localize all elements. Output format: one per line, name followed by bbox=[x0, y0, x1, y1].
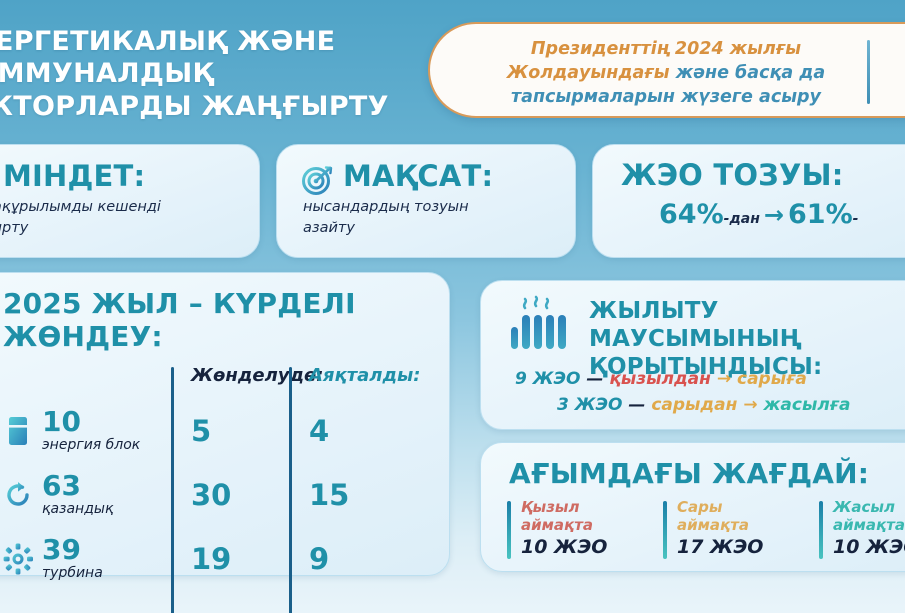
card-mindet-subtitle: Инфрақұрылымды кешенді жаңғырту bbox=[0, 197, 241, 239]
card-maksat: МАҚСАТ: нысандардың тозуын азайту bbox=[276, 144, 576, 258]
tozuy-statistic: 64%-дан→61%- bbox=[659, 199, 858, 230]
zone-yellow: Сары аймақта 17 ЖЭО bbox=[663, 499, 789, 558]
banner-text: Президенттің 2024 жылғы Жолдауындағы жән… bbox=[482, 37, 850, 109]
line2-to: жасылға bbox=[763, 395, 850, 415]
card-mindet-title: МІНДЕТ: bbox=[3, 159, 145, 193]
cell-in-repair-energy-block: 5 bbox=[167, 399, 285, 463]
banner-line2-rest: және басқа да bbox=[670, 63, 826, 83]
line2-arrow-icon: → bbox=[743, 395, 757, 415]
table-header-cell-completed: Аяқталды: bbox=[285, 365, 415, 386]
card-tozuy-title: ЖЭО ТОЗУЫ: bbox=[621, 158, 844, 192]
card-maksat-subtitle: нысандардың тозуын азайту bbox=[303, 197, 553, 239]
metric-turbine-text: 39 турбина bbox=[42, 536, 103, 581]
infographic-canvas: ЭНЕРГЕТИКАЛЫҚ ЖӘНЕ КОММУНАЛДЫҚ СЕКТОРЛАР… bbox=[0, 0, 905, 613]
zone-yellow-value: 17 ЖЭО bbox=[677, 536, 789, 558]
banner-line2-highlight: Жолдауындағы bbox=[507, 63, 670, 83]
zone-red: Қызыл аймақта 10 ЖЭО bbox=[507, 499, 633, 558]
line1-count: 9 ЖЭО bbox=[515, 369, 581, 389]
banner-line3: тапсырмаларын жүзеге асыру bbox=[511, 87, 821, 107]
banner-divider bbox=[867, 40, 870, 104]
table-row: 39 турбина 19 9 bbox=[3, 527, 433, 591]
line1-to: сарыға bbox=[737, 369, 807, 389]
tozuy-to-value: 61% bbox=[788, 199, 853, 230]
card-maksat-title: МАҚСАТ: bbox=[343, 159, 493, 193]
card-kurdeli-title: 2025 ЖЫЛ – КҮРДЕЛІ ЖӨНДЕУ: bbox=[3, 287, 433, 353]
president-banner: Президенттің 2024 жылғы Жолдауындағы жән… bbox=[428, 22, 905, 118]
zone-list: Қызыл аймақта 10 ЖЭО Сары аймақта 17 ЖЭО… bbox=[507, 499, 905, 558]
card-zheo-tozuy: ЖЭО ТОЗУЫ: 64%-дан→61%- bbox=[592, 144, 905, 258]
cell-completed-turbine: 9 bbox=[285, 527, 415, 591]
line1-from: қызылдан bbox=[609, 369, 711, 389]
line1-dash: — bbox=[586, 369, 603, 389]
repair-table: Жөнделуде: Аяқталды: bbox=[3, 365, 433, 591]
table-row: 63 қазандық 30 15 bbox=[3, 463, 433, 527]
arrow-right-icon: → bbox=[760, 201, 788, 229]
zone-red-value: 10 ЖЭО bbox=[521, 536, 633, 558]
line2-dash: — bbox=[628, 395, 645, 415]
zhylytu-line-2: 3 ЖЭО — сарыдан → жасылға bbox=[505, 393, 905, 419]
metric-boiler: 63 қазандық bbox=[3, 463, 167, 527]
card-zhylytu-maussym: ЖЫЛЫТУ МАУСЫМЫНЫҢ ҚОРЫТЫНДЫСЫ: 9 ЖЭО — қ… bbox=[480, 280, 905, 430]
card-agymdagy-zhagday: АҒЫМДАҒЫ ЖАҒДАЙ: Қызыл аймақта 10 ЖЭО Са… bbox=[480, 442, 905, 572]
banner-line1: Президенттің 2024 жылғы bbox=[531, 39, 801, 59]
table-row: 10 энергия блок 5 4 bbox=[3, 399, 433, 463]
metric-energy-block: 10 энергия блок bbox=[3, 399, 167, 463]
card-kurdeli-zhondeu: 2025 ЖЫЛ – КҮРДЕЛІ ЖӨНДЕУ: Жөнделуде: Ая… bbox=[0, 272, 450, 576]
tozuy-to-suffix: - bbox=[853, 211, 859, 227]
radiator-icon bbox=[503, 295, 575, 361]
zone-green: Жасыл аймақта 10 ЖЭО bbox=[819, 499, 905, 558]
cell-in-repair-boiler: 30 bbox=[167, 463, 285, 527]
zone-green-label: Жасыл аймақта bbox=[833, 499, 905, 534]
metric-turbine: 39 турбина bbox=[3, 527, 167, 591]
tozuy-from-value: 64% bbox=[659, 199, 724, 230]
cell-in-repair-turbine: 19 bbox=[167, 527, 285, 591]
card-agym-title: АҒЫМДАҒЫ ЖАҒДАЙ: bbox=[509, 457, 869, 490]
energy-block-icon bbox=[3, 414, 33, 448]
zhylytu-line-1: 9 ЖЭО — қызылдан → сарыға bbox=[505, 367, 905, 393]
page-title: ЭНЕРГЕТИКАЛЫҚ ЖӘНЕ КОММУНАЛДЫҚ СЕКТОРЛАР… bbox=[0, 26, 422, 123]
boiler-icon bbox=[3, 478, 33, 512]
line1-arrow-icon: → bbox=[717, 369, 731, 389]
cell-completed-boiler: 15 bbox=[285, 463, 415, 527]
zhylytu-results: 9 ЖЭО — қызылдан → сарыға 3 ЖЭО — сарыда… bbox=[505, 367, 905, 418]
zone-yellow-label: Сары аймақта bbox=[677, 499, 789, 534]
metric-boiler-text: 63 қазандық bbox=[42, 472, 113, 517]
table-header-row: Жөнделуде: Аяқталды: bbox=[3, 365, 433, 399]
line2-from: сарыдан bbox=[651, 395, 737, 415]
line2-count: 3 ЖЭО bbox=[557, 395, 623, 415]
zone-red-label: Қызыл аймақта bbox=[521, 499, 633, 534]
zone-green-value: 10 ЖЭО bbox=[833, 536, 905, 558]
target-icon bbox=[301, 163, 335, 201]
tozuy-from-suffix: -дан bbox=[724, 211, 760, 227]
cell-completed-energy-block: 4 bbox=[285, 399, 415, 463]
card-mindet: МІНДЕТ: Инфрақұрылымды кешенді жаңғырту bbox=[0, 144, 260, 258]
turbine-icon bbox=[3, 542, 33, 576]
table-header-cell-in-repair: Жөнделуде: bbox=[167, 365, 285, 386]
metric-energy-block-text: 10 энергия блок bbox=[42, 408, 140, 453]
